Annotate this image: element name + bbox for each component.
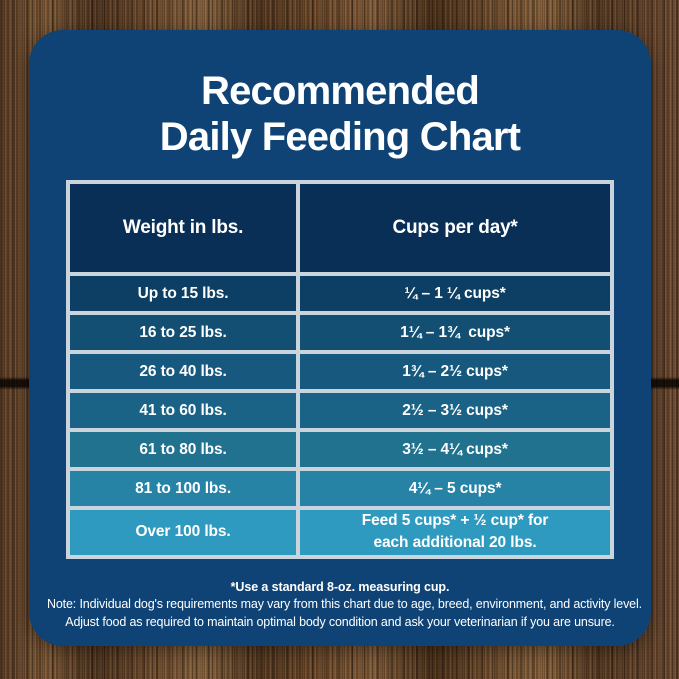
column-header-cups: Cups per day* [298,182,612,274]
cell-cups: 1¼ – 1¾ cups* [298,313,612,352]
table-header: Weight in lbs. Cups per day* [68,182,612,274]
table-row: Over 100 lbs. Feed 5 cups* + ½ cup* for … [68,508,612,557]
cell-weight: 61 to 80 lbs. [68,430,298,469]
footnote-variation-note: Note: Individual dog's requirements may … [47,596,633,614]
cell-cups: ¼ – 1 ¼ cups* [298,274,612,313]
cell-cups: 2½ – 3½ cups* [298,391,612,430]
table-header-row: Weight in lbs. Cups per day* [68,182,612,274]
cell-weight: Up to 15 lbs. [68,274,298,313]
table-body: Up to 15 lbs. ¼ – 1 ¼ cups* 16 to 25 lbs… [68,274,612,557]
cell-weight: 16 to 25 lbs. [68,313,298,352]
footnote-adjust-note: Adjust food as required to maintain opti… [47,614,633,632]
table-row: Up to 15 lbs. ¼ – 1 ¼ cups* [68,274,612,313]
cell-cups: 4¼ – 5 cups* [298,469,612,508]
page-title: Recommended Daily Feeding Chart [29,30,651,161]
cell-cups: 1¾ – 2½ cups* [298,352,612,391]
cell-cups: Feed 5 cups* + ½ cup* for each additiona… [298,508,612,557]
table-row: 41 to 60 lbs. 2½ – 3½ cups* [68,391,612,430]
cell-cups: 3½ – 4¼ cups* [298,430,612,469]
page-title-line-2: Daily Feeding Chart [59,114,621,160]
table-row: 16 to 25 lbs. 1¼ – 1¾ cups* [68,313,612,352]
cell-weight: 26 to 40 lbs. [68,352,298,391]
cell-weight: 81 to 100 lbs. [68,469,298,508]
feeding-chart-table: Weight in lbs. Cups per day* Up to 15 lb… [66,180,614,559]
column-header-weight: Weight in lbs. [68,182,298,274]
feeding-chart-card: Recommended Daily Feeding Chart Weight i… [29,30,651,646]
table-row: 61 to 80 lbs. 3½ – 4¼ cups* [68,430,612,469]
footnotes: *Use a standard 8-oz. measuring cup. Not… [47,580,633,632]
footnote-measuring-cup: *Use a standard 8-oz. measuring cup. [47,580,633,594]
page-title-line-1: Recommended [59,68,621,114]
cell-weight: Over 100 lbs. [68,508,298,557]
table-row: 81 to 100 lbs. 4¼ – 5 cups* [68,469,612,508]
cell-weight: 41 to 60 lbs. [68,391,298,430]
table-row: 26 to 40 lbs. 1¾ – 2½ cups* [68,352,612,391]
